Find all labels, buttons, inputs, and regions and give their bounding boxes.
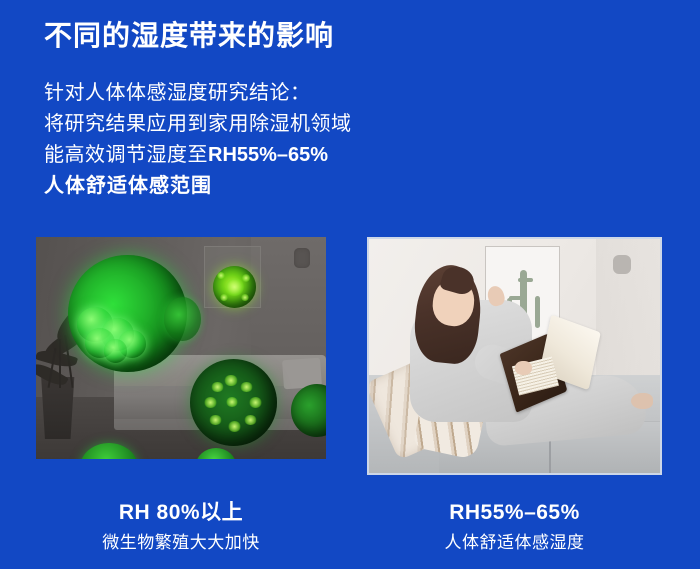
scene-bright-livingroom <box>369 239 660 473</box>
microbe-spike <box>242 274 250 282</box>
wall-speaker-icon <box>294 248 310 268</box>
microbe-sphere-medium <box>213 266 257 308</box>
microbe-spike <box>211 382 224 392</box>
intro-line-4: 人体舒适体感范围 <box>44 171 352 202</box>
cactus-arm <box>518 278 533 282</box>
microbe-spike <box>209 415 222 425</box>
microbe-spike <box>217 272 225 280</box>
microbe-sphere-lower <box>190 359 277 446</box>
microbe-core <box>226 397 238 407</box>
humidity-range-value: RH55%–65% <box>208 144 328 166</box>
caption-subtitle: 微生物繁殖大大加快 <box>36 530 326 556</box>
microbe-spike <box>204 397 217 407</box>
intro-line-2: 将研究结果应用到家用除湿机领域 <box>44 109 352 140</box>
microbe-spike <box>249 397 262 407</box>
caption-subtitle: 人体舒适体感湿度 <box>367 530 662 556</box>
intro-line-3: 能高效调节湿度至RH55%–65% <box>44 140 352 171</box>
caption-comfort-humidity: RH55%–65% 人体舒适体感湿度 <box>367 500 662 556</box>
caption-title: RH55%–65% <box>367 500 662 526</box>
microbe-spike <box>240 382 253 392</box>
plant-stem <box>59 339 61 388</box>
microbe-cell <box>104 339 128 363</box>
woman-hand-holding-book <box>515 361 532 375</box>
photo-comfort-humidity <box>367 237 662 475</box>
photo-high-humidity <box>36 237 326 459</box>
microbe-spike <box>224 375 238 386</box>
intro-line-3-text: 能高效调节湿度至 <box>44 144 208 166</box>
wall-speaker-icon <box>613 255 631 274</box>
intro-paragraph: 针对人体体感湿度研究结论： 将研究结果应用到家用除湿机领域 能高效调节湿度至RH… <box>44 78 352 202</box>
woman-foot <box>631 393 653 409</box>
cactus-arm <box>509 296 524 300</box>
microbe-spike <box>244 415 257 425</box>
microbe-spike <box>241 294 249 302</box>
intro-line-1: 针对人体体感湿度研究结论： <box>44 78 352 109</box>
scene-dim-livingroom <box>36 237 326 459</box>
microbe-spike <box>228 421 241 431</box>
microbe-spike <box>220 294 228 302</box>
humidity-comparison-poster: 不同的湿度带来的影响 针对人体体感湿度研究结论： 将研究结果应用到家用除湿机领域… <box>0 0 700 569</box>
microbe-core <box>225 278 244 297</box>
caption-high-humidity: RH 80%以上 微生物繁殖大大加快 <box>36 500 326 556</box>
page-title: 不同的湿度带来的影响 <box>44 18 334 53</box>
caption-title: RH 80%以上 <box>36 500 326 526</box>
